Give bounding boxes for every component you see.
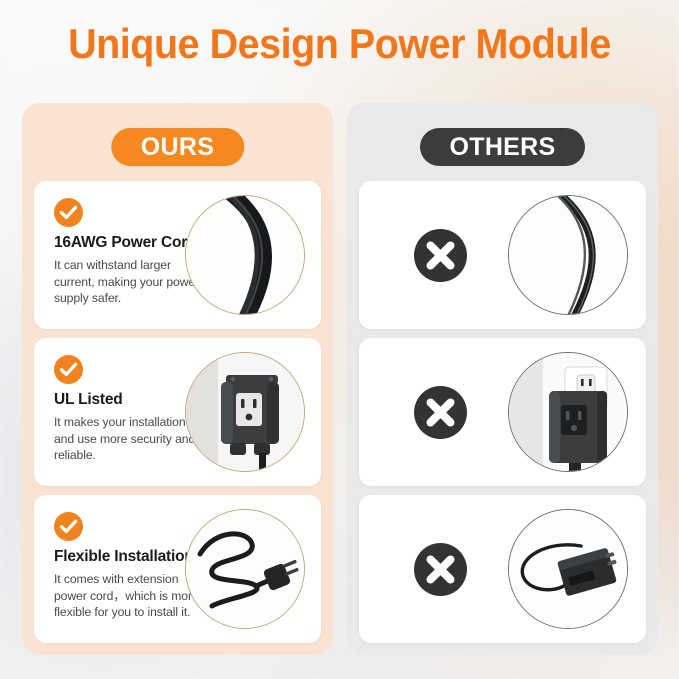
x-circle-icon bbox=[414, 386, 467, 439]
adapter-brick-photo bbox=[508, 509, 628, 629]
ours-card-1: 16AWG Power Cord It can withstand larger… bbox=[34, 181, 321, 329]
infographic-page: Unique Design Power Module OURS 16AWG Po… bbox=[0, 0, 679, 679]
adapter-in-wall-outlet-photo bbox=[508, 352, 628, 472]
extension-cord-photo bbox=[185, 509, 305, 629]
x-circle-icon bbox=[414, 543, 467, 596]
ours-panel: OURS 16AWG Power Cord It can withstand l… bbox=[22, 103, 333, 655]
card-body: It makes your installation and use more … bbox=[54, 414, 206, 464]
ours-card-3: Flexible Installation It comes with exte… bbox=[34, 495, 321, 643]
ours-card-2: UL Listed It makes your installation and… bbox=[34, 338, 321, 486]
power-cord-photo bbox=[185, 195, 305, 315]
others-card-2 bbox=[359, 338, 646, 486]
others-card-1 bbox=[359, 181, 646, 329]
check-circle-icon bbox=[54, 198, 83, 227]
others-panel: OTHERS bbox=[347, 103, 658, 655]
card-body: It comes with extension power cord，which… bbox=[54, 571, 206, 621]
page-title: Unique Design Power Module bbox=[20, 18, 658, 70]
x-circle-icon bbox=[414, 229, 467, 282]
ours-badge: OURS bbox=[111, 128, 244, 166]
others-badge: OTHERS bbox=[420, 128, 586, 166]
check-circle-icon bbox=[54, 355, 83, 384]
outdoor-outlet-box-photo bbox=[185, 352, 305, 472]
check-circle-icon bbox=[54, 512, 83, 541]
thin-cable-photo bbox=[508, 195, 628, 315]
others-card-3 bbox=[359, 495, 646, 643]
card-body: It can withstand larger current, making … bbox=[54, 257, 206, 307]
